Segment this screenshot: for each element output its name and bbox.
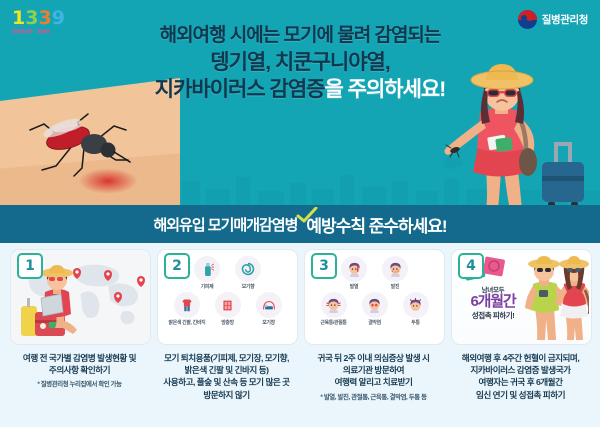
panel-2-caption-line-4: 방문하지 않기 <box>159 389 294 401</box>
panel-1-note: * 질병관리청 누리집에서 확인 가능 <box>10 379 149 388</box>
icon-label-rash: 발진 <box>377 283 413 290</box>
panel-row: 1 여행 전 국가별 감염병 발생현황 및 주의사항 확인하기 * 질병관리청 … <box>0 249 600 427</box>
panel-2-caption-line-1: 모기 퇴치용품(기피제, 모기장, 모기향, <box>159 352 294 364</box>
map-pin-icon <box>114 292 122 303</box>
panel-4-number: 4 <box>458 253 484 279</box>
mosquito-coil-icon <box>235 256 261 282</box>
panel-1-number: 1 <box>17 253 43 279</box>
long-sleeve-clothing-icon <box>174 292 200 318</box>
repellent-spray-icon <box>194 256 220 282</box>
panel-3-note: * 발열, 발진, 관절통, 근육통, 결막염, 두통 등 <box>304 392 443 401</box>
icon-cell-coil: 모기향 <box>230 256 266 290</box>
prevention-banner: 해외유입 모기매개감염병 예방수칙 준수하세요! <box>0 205 600 243</box>
mosquito-net-bed-icon <box>256 292 282 318</box>
panel-4-caption-line-3: 여행자는 귀국 후 6개월간 <box>453 376 588 388</box>
mosquito-illustration <box>22 108 142 178</box>
icon-label-conjunctivitis: 결막염 <box>357 319 393 326</box>
agency-name: 질병관리청 <box>542 12 588 27</box>
icon-cell-rash: 발진 <box>377 256 413 290</box>
headache-icon <box>403 292 429 318</box>
panel-3-card: 발열 발진 <box>304 249 445 345</box>
icon-cell-headache: 두통 <box>398 292 434 326</box>
panel-3-caption-line-3: 여행력 알리고 치료받기 <box>306 376 441 388</box>
headline-line-3: 지카바이러스 감염증을 주의하세요! <box>0 79 600 101</box>
panel-1-caption-line-1: 여행 전 국가별 감염병 발생현황 및 <box>12 352 147 364</box>
panel-2-caption: 모기 퇴치용품(기피제, 모기장, 모기향, 밝은색 긴팔 및 긴바지 등) 사… <box>157 352 296 401</box>
panel-1-card: 1 <box>10 249 151 345</box>
panel-3-number: 3 <box>311 253 337 279</box>
muscle-joint-pain-icon <box>321 292 347 318</box>
banner-text-normal: 해외유입 모기매개감염병 <box>153 214 297 235</box>
panel-1-caption-line-2: 주의사항 확인하기 <box>12 364 147 376</box>
icon-cell-fever: 발열 <box>336 256 372 290</box>
couple-travelers-illustration <box>521 256 589 344</box>
rash-symptom-icon <box>382 256 408 282</box>
icon-cell-net: 모기장 <box>251 292 287 326</box>
panel-4-inner-line-3: 성접촉 피하기! <box>460 310 526 321</box>
icon-cell-screen: 방충망 <box>210 292 246 326</box>
poster-header: 1339 감염병전문 · 콜센터 질병관리청 해외여행 시에는 모기에 물려 감… <box>0 0 600 205</box>
icon-label-repellent: 기피제 <box>189 283 225 290</box>
panel-4-caption: 해외여행 후 4주간 헌혈이 금지되며, 지카바이러스 감염증 발생국가 여행자… <box>451 352 590 401</box>
headline-line-3-white: 을 주의하세요! <box>324 78 445 101</box>
headline-block: 해외여행 시에는 모기에 물려 감염되는 뎅기열, 치쿤구니야열, 지카바이러스… <box>0 26 600 101</box>
banner-text-emphasis: 예방수칙 준수하세요! <box>306 212 446 237</box>
map-pin-icon <box>137 276 145 287</box>
panel-2-caption-line-2: 밝은색 긴팔 및 긴바지 등) <box>159 364 294 376</box>
headline-line-3-dark: 지카바이러스 감염증 <box>155 78 325 101</box>
icon-label-fever: 발열 <box>336 283 372 290</box>
panel-4-caption-line-1: 해외여행 후 4주간 헌혈이 금지되며, <box>453 352 588 364</box>
panel-4-inner-line-2: 6개월간 <box>460 294 526 309</box>
panel-2-card: 기피제 모기향 <box>157 249 298 345</box>
panel-2-caption-line-3: 사용하고, 풀숲 및 산속 등 모기 많은 곳 <box>159 376 294 388</box>
window-screen-icon <box>215 292 241 318</box>
panel-1: 1 여행 전 국가별 감염병 발생현황 및 주의사항 확인하기 * 질병관리청 … <box>6 249 153 427</box>
panel-4-caption-line-2: 지카바이러스 감염증 발생국가 <box>453 364 588 376</box>
icon-cell-clothing: 밝은색 긴팔, 긴바지 <box>169 292 205 326</box>
icon-cell-repellent: 기피제 <box>189 256 225 290</box>
panel-4-caption-line-4: 임신 연기 및 성접촉 피하기 <box>453 389 588 401</box>
icon-label-coil: 모기향 <box>230 283 266 290</box>
fever-symptom-icon <box>341 256 367 282</box>
panel-2: 기피제 모기향 <box>153 249 300 427</box>
check-icon <box>296 207 318 223</box>
headline-line-2: 뎅기열, 치쿤구니야열, <box>0 52 600 74</box>
panel-4-card: 남녀모두 6개월간 성접촉 피하기! <box>451 249 592 345</box>
icon-cell-muscle-pain: 근육통/관절통 <box>316 292 352 326</box>
headline-line-1: 해외여행 시에는 모기에 물려 감염되는 <box>0 26 600 46</box>
icon-label-net: 모기장 <box>251 319 287 326</box>
panel-3: 발열 발진 <box>300 249 447 427</box>
panel-4-inner-text: 남녀모두 6개월간 성접촉 피하기! <box>460 284 526 321</box>
icon-label-headache: 두통 <box>398 319 434 326</box>
icon-label-clothing: 밝은색 긴팔, 긴바지 <box>169 319 205 326</box>
panel-4: 남녀모두 6개월간 성접촉 피하기! <box>447 249 594 427</box>
panel-3-caption-line-1: 귀국 뒤 2주 이내 의심증상 발생 시 <box>306 352 441 364</box>
icon-cell-conjunctivitis: 결막염 <box>357 292 393 326</box>
panel-3-caption: 귀국 뒤 2주 이내 의심증상 발생 시 의료기관 방문하여 여행력 알리고 치… <box>304 352 443 389</box>
icon-label-muscle-pain: 근육통/관절통 <box>316 319 352 326</box>
poster-root: 1339 감염병전문 · 콜센터 질병관리청 해외여행 시에는 모기에 물려 감… <box>0 0 600 427</box>
panel-2-number: 2 <box>164 253 190 279</box>
panel-3-caption-line-2: 의료기관 방문하여 <box>306 364 441 376</box>
panel-1-caption: 여행 전 국가별 감염병 발생현황 및 주의사항 확인하기 <box>10 352 149 376</box>
icon-label-screen: 방충망 <box>210 319 246 326</box>
condom-package-icon <box>482 254 508 278</box>
map-pin-icon <box>104 270 112 281</box>
conjunctivitis-icon <box>362 292 388 318</box>
